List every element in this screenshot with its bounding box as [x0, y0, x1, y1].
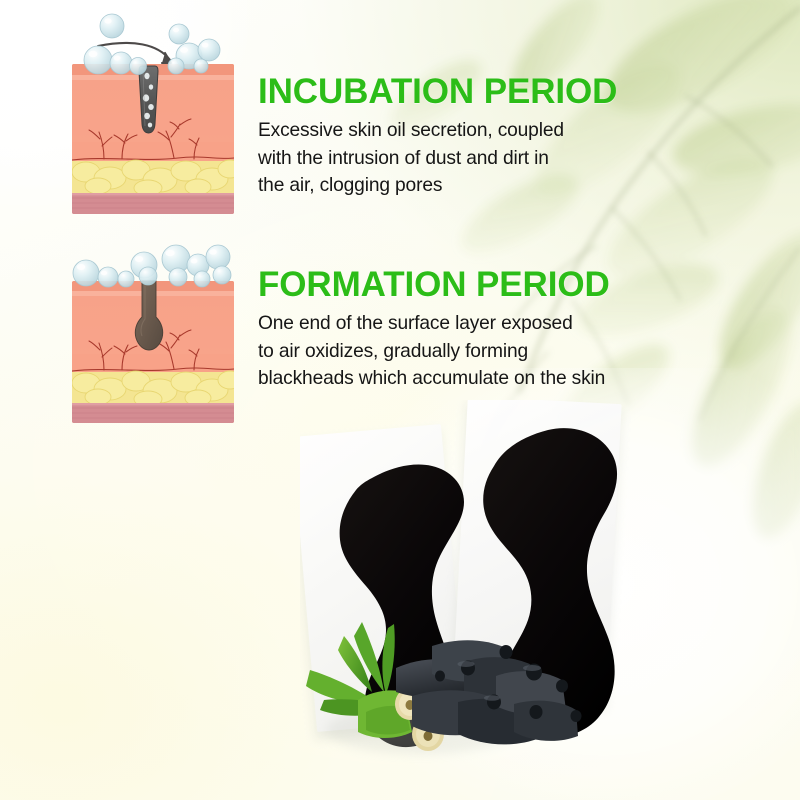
body-line: with the intrusion of dust and dirt in — [258, 145, 617, 172]
section-incubation: INCUBATION PERIOD Excessive skin oil sec… — [258, 74, 617, 199]
oil-bubbles — [73, 245, 231, 287]
skin-diagram-formation — [66, 243, 240, 428]
body-incubation: Excessive skin oil secretion, coupled wi… — [258, 117, 617, 199]
section-formation: FORMATION PERIOD One end of the surface … — [258, 267, 610, 392]
body-line: the air, clogging pores — [258, 172, 617, 199]
body-formation: One end of the surface layer exposed to … — [258, 310, 610, 392]
product-photo-nose-strips — [300, 400, 800, 800]
clogged-pore — [139, 66, 158, 133]
body-line: to air oxidizes, gradually forming — [258, 338, 610, 365]
skin-diagram-incubation — [66, 8, 240, 220]
heading-formation: FORMATION PERIOD — [258, 267, 610, 303]
body-line: One end of the surface layer exposed — [258, 310, 610, 337]
body-line: blackheads which accumulate on the skin — [258, 365, 610, 392]
infographic-canvas: INCUBATION PERIOD Excessive skin oil sec… — [0, 0, 800, 800]
body-line: Excessive skin oil secretion, coupled — [258, 117, 617, 144]
heading-incubation: INCUBATION PERIOD — [258, 74, 617, 110]
